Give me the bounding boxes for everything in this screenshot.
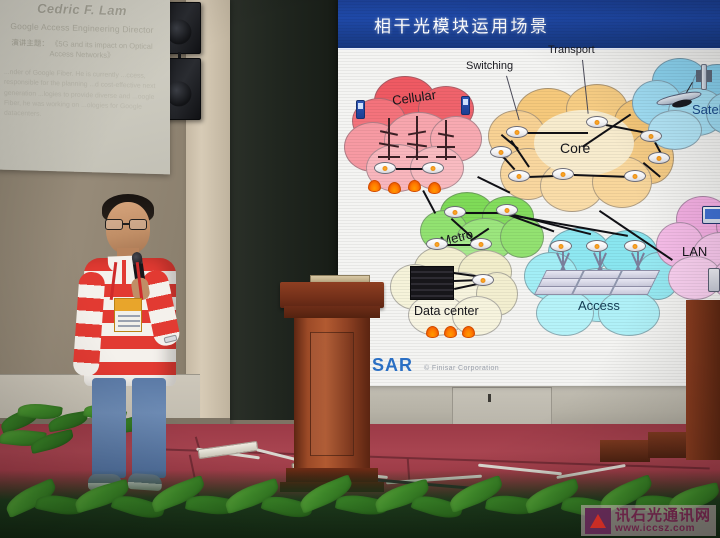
cell-tower-icon [378,118,400,160]
firewall-icon [368,180,381,192]
router-icon [506,126,528,138]
router-icon [586,116,608,128]
router-icon [472,274,494,286]
callout-label-transport: Transport [548,44,595,56]
cloud-label-lan: LAN [682,244,707,259]
finisar-logo: SAR [372,355,413,376]
mobile-phone-icon [461,96,470,115]
network-diagram: Cellular [338,50,720,386]
logo-triangle [590,514,606,528]
firewall-icon [426,326,439,338]
router-icon [422,162,444,174]
stage-door [452,387,552,427]
access-node-fanout [540,252,670,296]
left-projection-screen: Cedric F. Lam Google Access Engineering … [0,0,170,174]
router-icon [508,170,530,182]
router-icon [624,170,646,182]
podium [286,282,378,496]
cloud-label-core: Core [560,140,590,156]
slide-copyright: © Finisar Corporation [424,365,499,372]
speaker-topic: 演讲主题： 《5G and its impact on Optical Acce… [2,38,162,63]
firewall-icon [428,182,441,194]
firewall-icon [408,180,421,192]
router-icon [648,152,670,164]
network-link [396,168,424,170]
watermark-site-name: 讯石光通讯网 [615,508,711,524]
speaker-cone-icon [166,81,191,106]
firewall-icon [444,326,457,338]
right-leg [132,378,166,478]
router-icon [426,238,448,250]
router-icon [640,130,662,142]
router-icon [470,238,492,250]
topic-label: 演讲主题： [11,38,49,48]
firewall-icon [462,326,475,338]
mobile-phone-icon [356,100,365,119]
satellite-icon [696,64,712,90]
door-knob-icon [488,394,491,402]
name-badge [114,298,142,332]
router-icon [552,168,574,180]
router-icon [444,206,466,218]
iccsz-logo-icon [585,508,611,534]
callout-label-switching: Switching [466,60,513,72]
router-icon [490,146,512,158]
pc-tower-icon [708,268,720,292]
shirt-placket [122,260,126,286]
router-icon [496,204,518,216]
network-link [464,212,498,214]
badge-text-lines [118,315,140,317]
router-icon [586,240,608,252]
legs-jeans [92,378,170,478]
router-icon [624,240,646,252]
watermark-url: www.iccsz.com [615,524,711,535]
cloud-label-data-center: Data center [414,304,479,318]
network-link [526,132,588,134]
speaker-cone-icon [166,19,191,44]
podium-lip [284,306,380,318]
podium-front-panel [310,332,354,456]
podium-top-surface [280,282,384,308]
cloud-cellular: Cellular [344,76,486,204]
monitor-icon [702,206,720,224]
site-watermark: 讯石光通讯网 www.iccsz.com [581,505,716,536]
right-lower-wall [340,382,720,430]
stage-riser-block [648,432,688,458]
watermark-text: 讯石光通讯网 www.iccsz.com [615,508,711,534]
slide-title: 相干光模块运用场景 [374,12,550,37]
speaker-name: Cedric F. Lam [2,0,162,19]
server-rack-icon [410,266,454,300]
cloud-data-center: Data center [390,246,520,346]
podium-body [294,318,370,470]
presenter [72,186,192,506]
wooden-side-panel [686,300,720,460]
glasses-icon [105,219,151,230]
router-icon [550,240,572,252]
cloud-label-access: Access [578,298,620,313]
topic-title: 《5G and its impact on Optical Access Net… [49,39,152,60]
speaker-bio-paragraph: ...nder of Google Fiber. He is currently… [2,68,162,123]
left-leg [92,378,126,478]
photo-scene: Cedric F. Lam Google Access Engineering … [0,0,720,538]
router-icon [374,162,396,174]
cell-tower-icon [436,120,456,160]
main-projection-screen: 相干光模块运用场景 Cellular [338,0,720,386]
cell-tower-icon [406,116,428,160]
stage-riser-block [600,440,650,462]
satellite-dish-icon [656,90,704,110]
speaker-role: Google Access Engineering Director [2,21,162,35]
firewall-icon [388,182,401,194]
